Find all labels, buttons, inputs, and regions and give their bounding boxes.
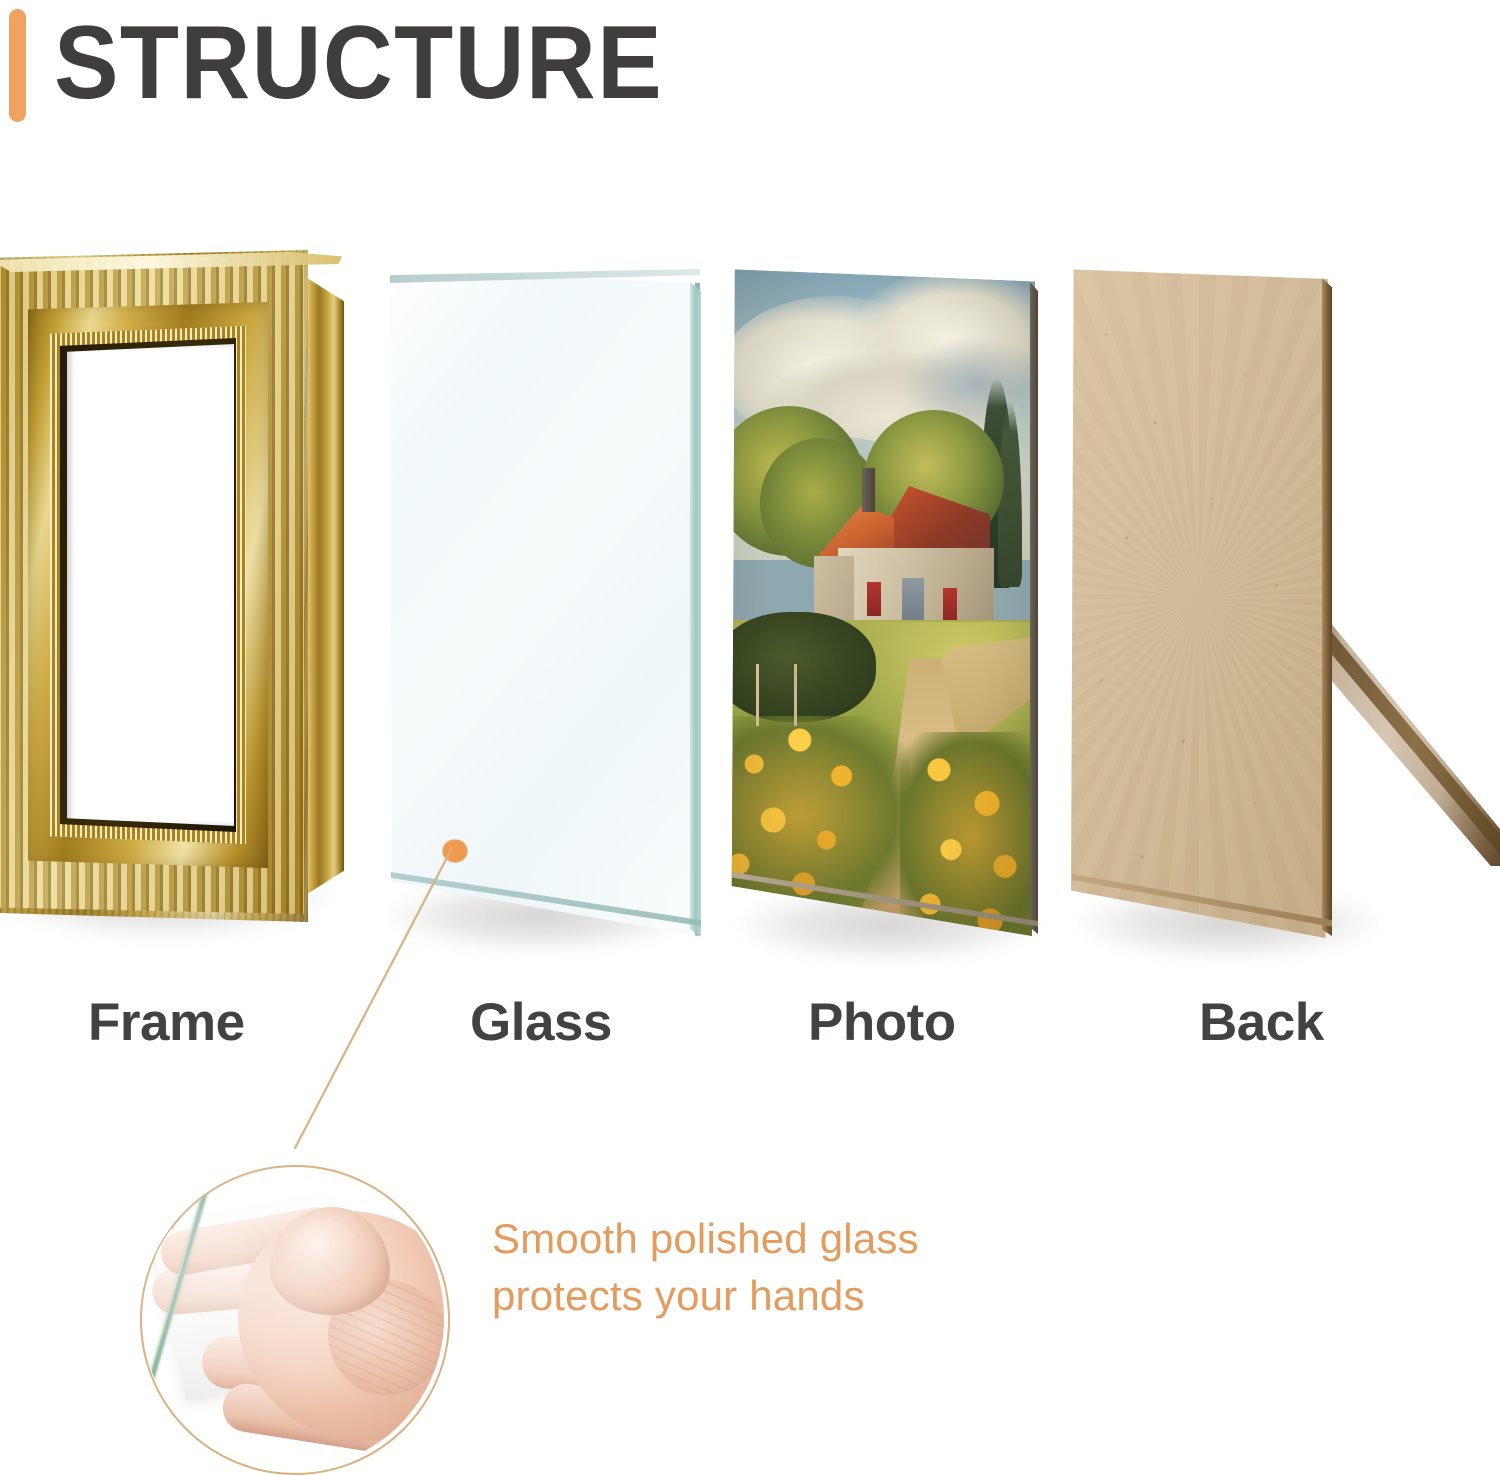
photo-vignette (730, 260, 1035, 936)
part-photo[interactable] (730, 260, 1060, 960)
glass-callout: Smooth polished glass protects your hand… (0, 1080, 1500, 1451)
title-accent-bar (9, 9, 26, 122)
frame-aperture (67, 344, 234, 826)
callout-caption-line-1: Smooth polished glass (492, 1210, 1092, 1267)
glass-right-edge (690, 282, 701, 937)
part-label-frame: Frame (88, 990, 245, 1056)
part-glass[interactable] (388, 260, 718, 950)
back-board (1070, 260, 1328, 938)
part-label-back: Back (1199, 990, 1324, 1056)
page-title: STRUCTURE (54, 4, 663, 122)
callout-detail-circle (140, 1165, 450, 1475)
macro-highlight (142, 1167, 444, 1469)
part-labels: Frame Glass Photo Back (0, 990, 1500, 1080)
part-label-glass: Glass (470, 990, 612, 1056)
callout-detail-image (142, 1167, 444, 1469)
callout-caption-line-2: protects your hands (492, 1267, 1092, 1324)
part-back[interactable] (1070, 260, 1490, 960)
exploded-parts-stage (0, 160, 1500, 980)
callout-caption: Smooth polished glass protects your hand… (492, 1210, 1092, 1324)
glass-callout-hotspot[interactable] (443, 840, 467, 862)
glass-outline (388, 260, 700, 936)
part-frame[interactable] (0, 250, 368, 920)
back-right-edge (1322, 278, 1332, 936)
photo-right-edge (1030, 282, 1038, 934)
part-label-photo: Photo (808, 990, 956, 1056)
photo-artwork (730, 260, 1035, 936)
page-header: STRUCTURE (0, 0, 1500, 160)
